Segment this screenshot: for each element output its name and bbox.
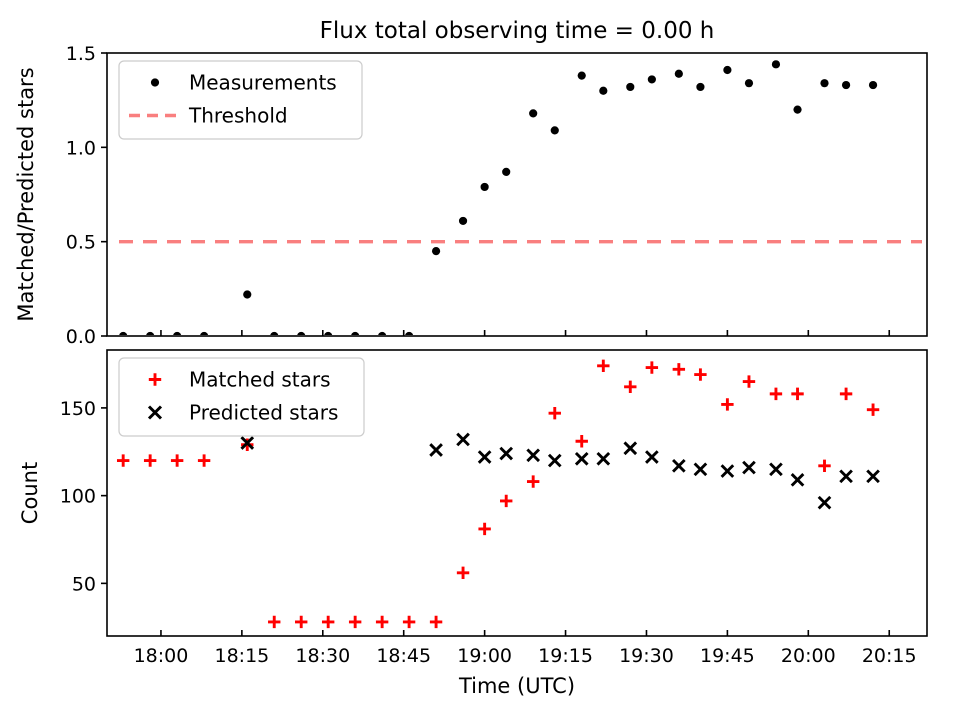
y-axis-title: Matched/Predicted stars <box>14 67 38 321</box>
y-tick-label: 0.0 <box>66 326 96 348</box>
page-title: Flux total observing time = 0.00 h <box>320 18 715 44</box>
matplotlib-figure: Flux total observing time = 0.00 h 0.00.… <box>0 0 960 720</box>
data-point-dot <box>675 70 683 78</box>
data-point-dot <box>772 60 780 68</box>
data-point-dot <box>820 79 828 87</box>
plot-canvas: Flux total observing time = 0.00 h 0.00.… <box>0 0 960 720</box>
data-point-dot <box>842 81 850 89</box>
data-point-dot <box>578 72 586 80</box>
y-tick-label: 1.0 <box>66 137 96 159</box>
data-point-dot <box>551 126 559 134</box>
x-tick-label: 18:15 <box>214 645 269 667</box>
data-point-dot <box>648 75 656 83</box>
data-point-dot <box>459 217 467 225</box>
y-tick-label: 100 <box>60 486 96 508</box>
data-point-dot <box>432 247 440 255</box>
x-tick-label: 19:45 <box>700 645 755 667</box>
legend: MeasurementsThreshold <box>119 61 362 139</box>
y-tick-label: 50 <box>72 573 96 595</box>
data-point-dot <box>481 183 489 191</box>
x-tick-label: 19:00 <box>457 645 512 667</box>
x-tick-label: 18:45 <box>376 645 431 667</box>
legend-label: Threshold <box>188 104 288 128</box>
data-point-dot <box>529 109 537 117</box>
data-point-dot <box>502 168 510 176</box>
data-point-dot <box>869 81 877 89</box>
data-point-dot <box>243 290 251 298</box>
legend-label: Matched stars <box>189 368 331 392</box>
data-point-dot <box>626 83 634 91</box>
data-point-dot <box>723 66 731 74</box>
legend-label: Measurements <box>189 71 337 95</box>
data-point-dot <box>793 106 801 114</box>
x-tick-label: 20:15 <box>862 645 917 667</box>
legend: Matched starsPredicted stars <box>119 358 364 436</box>
legend-label: Predicted stars <box>189 401 338 425</box>
x-tick-label: 20:00 <box>781 645 836 667</box>
y-axis-title: Count <box>18 462 42 524</box>
y-tick-label: 0.5 <box>66 232 96 254</box>
x-tick-label: 18:30 <box>295 645 350 667</box>
data-point-dot <box>599 87 607 95</box>
y-tick-label: 1.5 <box>66 43 96 65</box>
legend-marker-dot <box>151 78 159 86</box>
x-tick-label: 18:00 <box>134 645 189 667</box>
x-axis-title: Time (UTC) <box>458 674 575 698</box>
data-point-dot <box>696 83 704 91</box>
x-tick-label: 19:30 <box>619 645 674 667</box>
data-point-dot <box>745 79 753 87</box>
x-tick-label: 19:15 <box>538 645 593 667</box>
y-tick-label: 150 <box>60 398 96 420</box>
